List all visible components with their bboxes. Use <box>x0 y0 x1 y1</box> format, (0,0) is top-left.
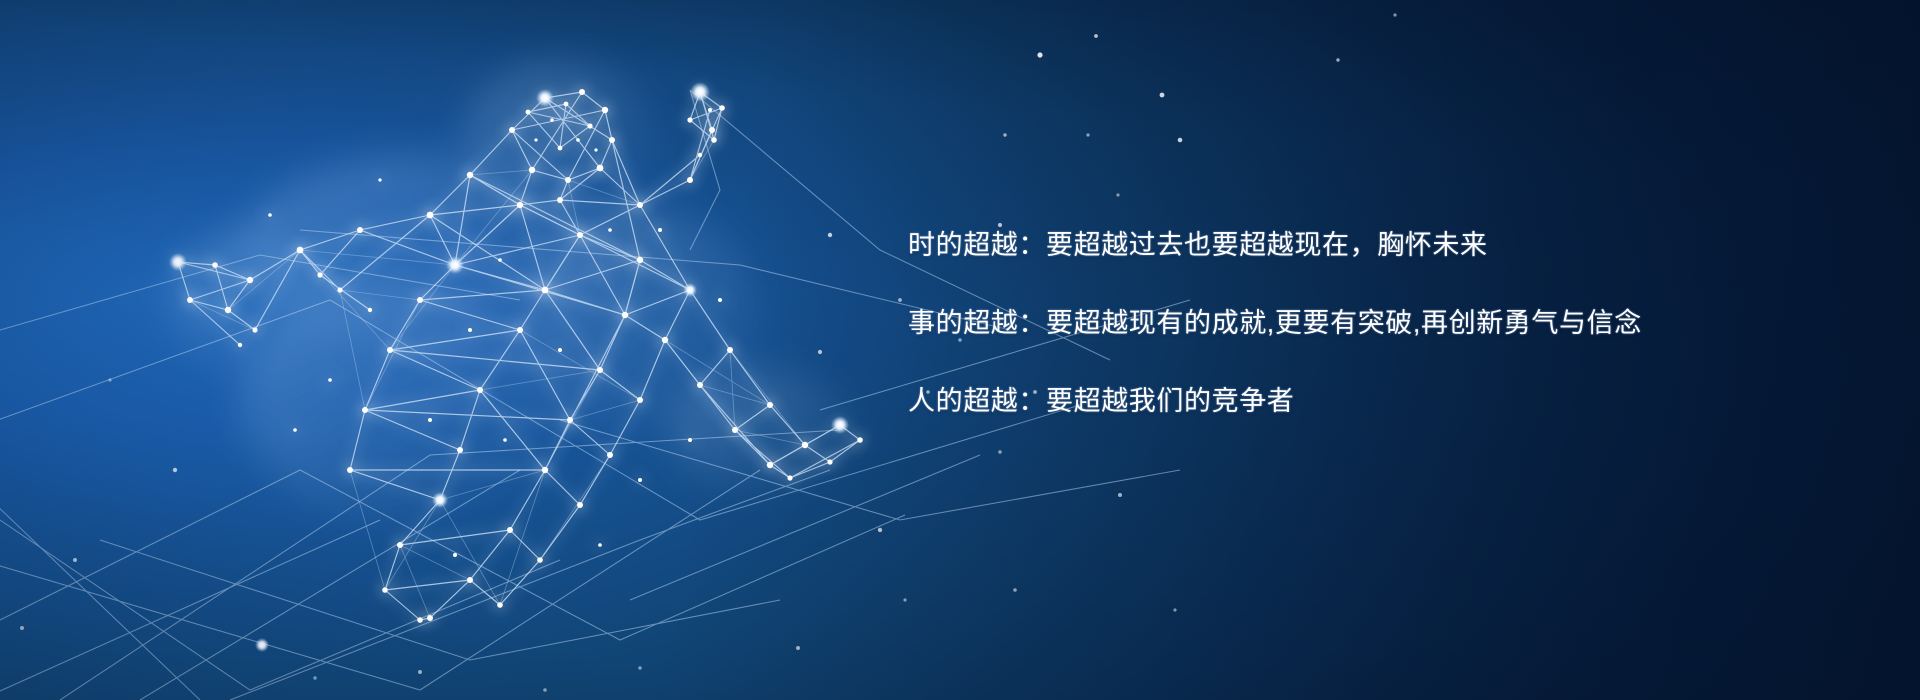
slogan-text-block: 时的超越：要超越过去也要超越现在，胸怀未来 事的超越：要超越现有的成就,更要有突… <box>908 232 1808 415</box>
slogan-line-3: 人的超越：要超越我们的竞争者 <box>908 388 1808 415</box>
slogan-line-1: 时的超越：要超越过去也要超越现在，胸怀未来 <box>908 232 1808 259</box>
slogan-line-2: 事的超越：要超越现有的成就,更要有突破,再创新勇气与信念 <box>908 310 1808 337</box>
hero-banner: 时的超越：要超越过去也要超越现在，胸怀未来 事的超越：要超越现有的成就,更要有突… <box>0 0 1920 700</box>
